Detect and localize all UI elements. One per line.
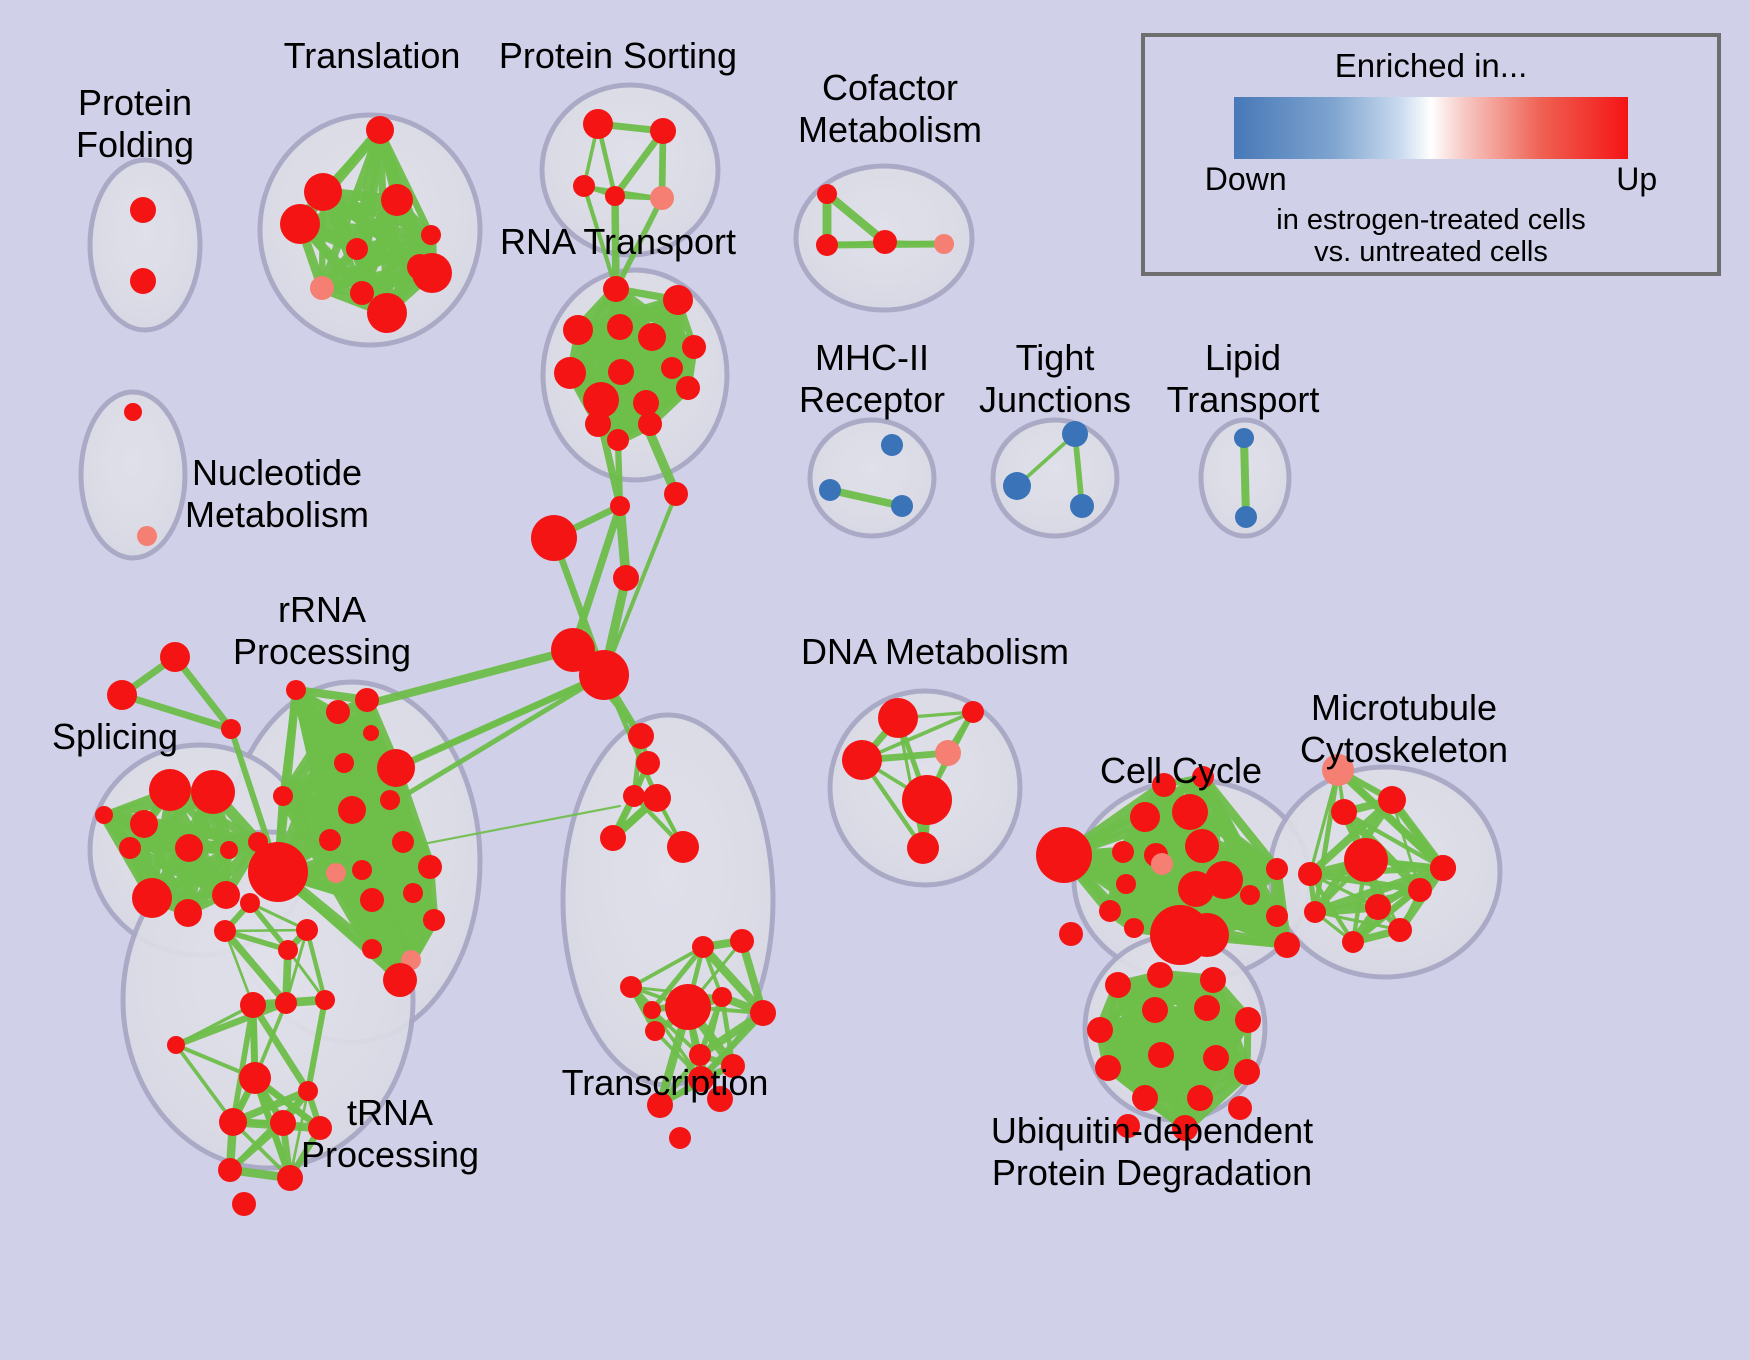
network-node[interactable] xyxy=(563,315,593,345)
network-node[interactable] xyxy=(881,434,903,456)
network-node[interactable] xyxy=(248,842,308,902)
network-node[interactable] xyxy=(1132,1085,1158,1111)
network-node[interactable] xyxy=(273,786,293,806)
network-node[interactable] xyxy=(326,700,350,724)
network-node[interactable] xyxy=(643,784,671,812)
network-node[interactable] xyxy=(334,753,354,773)
network-node[interactable] xyxy=(935,740,961,766)
network-node[interactable] xyxy=(1059,922,1083,946)
legend-caption-line-2: vs. untreated cells xyxy=(1145,236,1717,268)
network-node[interactable] xyxy=(175,834,203,862)
cluster-label-rna-transport: RNA Transport xyxy=(500,221,736,262)
network-node[interactable] xyxy=(412,253,452,293)
network-node[interactable] xyxy=(664,482,688,506)
network-node[interactable] xyxy=(107,680,137,710)
network-node[interactable] xyxy=(628,723,654,749)
network-node[interactable] xyxy=(310,276,334,300)
network-node[interactable] xyxy=(220,841,238,859)
cluster-label-cofactor-metabolism: CofactorMetabolism xyxy=(798,67,982,150)
network-node[interactable] xyxy=(636,751,660,775)
legend-color-gradient-bar xyxy=(1234,97,1628,159)
network-node[interactable] xyxy=(1298,862,1322,886)
network-node[interactable] xyxy=(603,276,629,302)
network-node[interactable] xyxy=(270,1110,296,1136)
network-node[interactable] xyxy=(902,775,952,825)
cluster-label-transcription: Transcription xyxy=(562,1062,769,1103)
network-node[interactable] xyxy=(1342,931,1364,953)
network-node[interactable] xyxy=(1148,1042,1174,1068)
network-node[interactable] xyxy=(239,1062,271,1094)
network-node[interactable] xyxy=(363,725,379,741)
network-node[interactable] xyxy=(934,234,954,254)
network-node[interactable] xyxy=(692,936,714,958)
network-node[interactable] xyxy=(315,990,335,1010)
network-node[interactable] xyxy=(608,359,634,385)
network-node[interactable] xyxy=(645,1021,665,1041)
network-node[interactable] xyxy=(221,719,241,739)
network-node[interactable] xyxy=(1116,874,1136,894)
network-node[interactable] xyxy=(1234,428,1254,448)
network-node[interactable] xyxy=(1266,905,1288,927)
network-node[interactable] xyxy=(218,1158,242,1182)
network-node[interactable] xyxy=(219,1108,247,1136)
network-node[interactable] xyxy=(676,376,700,400)
network-node[interactable] xyxy=(638,412,662,436)
network-node[interactable] xyxy=(817,184,837,204)
network-node[interactable] xyxy=(350,281,374,305)
network-node[interactable] xyxy=(1274,932,1300,958)
network-node[interactable] xyxy=(1200,967,1226,993)
network-node[interactable] xyxy=(643,1001,661,1019)
network-node[interactable] xyxy=(403,883,423,903)
network-node[interactable] xyxy=(907,832,939,864)
network-node[interactable] xyxy=(381,184,413,216)
network-node[interactable] xyxy=(1388,918,1412,942)
network-node[interactable] xyxy=(278,940,298,960)
network-node[interactable] xyxy=(377,749,415,787)
network-node[interactable] xyxy=(610,496,630,516)
network-node[interactable] xyxy=(130,197,156,223)
legend-caption: in estrogen-treated cells vs. untreated … xyxy=(1145,204,1717,269)
network-node[interactable] xyxy=(661,357,683,379)
cluster-label-mhc-ii-receptor: MHC-IIReceptor xyxy=(799,337,945,420)
network-node[interactable] xyxy=(638,323,666,351)
network-node[interactable] xyxy=(1087,1017,1113,1043)
network-node[interactable] xyxy=(1240,885,1260,905)
network-node[interactable] xyxy=(1151,853,1173,875)
network-node[interactable] xyxy=(132,878,172,918)
legend-down-label: Down xyxy=(1205,161,1287,198)
network-node[interactable] xyxy=(573,175,595,197)
figure-canvas: ProteinFoldingTranslationProtein Sorting… xyxy=(0,0,1750,1360)
network-node[interactable] xyxy=(1062,421,1088,447)
network-node[interactable] xyxy=(1105,972,1131,998)
network-node[interactable] xyxy=(1203,1045,1229,1071)
cluster-label-tight-junctions: TightJunctions xyxy=(979,337,1131,420)
network-node[interactable] xyxy=(286,680,306,700)
network-node[interactable] xyxy=(1147,962,1173,988)
network-node[interactable] xyxy=(174,899,202,927)
network-node[interactable] xyxy=(1430,855,1456,881)
network-node[interactable] xyxy=(750,1000,776,1026)
network-node[interactable] xyxy=(275,992,297,1014)
network-node[interactable] xyxy=(149,769,191,811)
network-node[interactable] xyxy=(212,881,240,909)
network-node[interactable] xyxy=(130,268,156,294)
network-node[interactable] xyxy=(95,806,113,824)
network-node[interactable] xyxy=(873,230,897,254)
network-node[interactable] xyxy=(620,976,642,998)
network-node[interactable] xyxy=(232,1192,256,1216)
network-node[interactable] xyxy=(319,829,341,851)
network-node[interactable] xyxy=(682,335,706,359)
cluster-label-ubiquitin-degradation: Ubiquitin-dependentProtein Degradation xyxy=(991,1110,1313,1193)
network-node[interactable] xyxy=(554,357,586,389)
network-node[interactable] xyxy=(712,987,732,1007)
legend-panel: Enriched in... Down Up in estrogen-treat… xyxy=(1141,33,1721,276)
cluster-label-nucleotide-metabolism: NucleotideMetabolism xyxy=(185,452,369,535)
network-node[interactable] xyxy=(613,565,639,591)
network-node[interactable] xyxy=(280,204,320,244)
network-node[interactable] xyxy=(362,939,382,959)
network-node[interactable] xyxy=(816,234,838,256)
network-node[interactable] xyxy=(1194,995,1220,1021)
network-node[interactable] xyxy=(1095,1055,1121,1081)
network-node[interactable] xyxy=(355,688,379,712)
network-node[interactable] xyxy=(891,495,913,517)
network-node[interactable] xyxy=(360,888,384,912)
network-node[interactable] xyxy=(383,963,417,997)
network-node[interactable] xyxy=(160,642,190,672)
network-node[interactable] xyxy=(1235,506,1257,528)
network-node[interactable] xyxy=(600,825,626,851)
network-node[interactable] xyxy=(296,919,318,941)
network-node[interactable] xyxy=(1185,913,1229,957)
legend-title: Enriched in... xyxy=(1145,47,1717,85)
network-node[interactable] xyxy=(1142,997,1168,1023)
network-node[interactable] xyxy=(1099,900,1121,922)
network-node[interactable] xyxy=(240,992,266,1018)
cluster-label-splicing: Splicing xyxy=(52,716,178,757)
network-node[interactable] xyxy=(665,984,711,1030)
network-node[interactable] xyxy=(1234,1059,1260,1085)
network-node[interactable] xyxy=(1070,494,1094,518)
network-node[interactable] xyxy=(326,863,346,883)
network-node[interactable] xyxy=(842,740,882,780)
cluster-label-microtubule-cytoskeleton: MicrotubuleCytoskeleton xyxy=(1300,687,1508,770)
network-node[interactable] xyxy=(421,225,441,245)
network-node[interactable] xyxy=(298,1081,318,1101)
network-node[interactable] xyxy=(366,116,394,144)
network-node[interactable] xyxy=(1378,786,1406,814)
network-node[interactable] xyxy=(1112,841,1134,863)
cluster-label-rrna-processing: rRNAProcessing xyxy=(233,589,411,672)
legend-endpoint-labels: Down Up xyxy=(1205,161,1657,198)
network-edge xyxy=(1244,438,1246,517)
network-node[interactable] xyxy=(1124,918,1144,938)
network-node[interactable] xyxy=(214,920,236,942)
network-node[interactable] xyxy=(1235,1007,1261,1033)
network-node[interactable] xyxy=(633,390,659,416)
network-node[interactable] xyxy=(338,796,366,824)
network-node[interactable] xyxy=(423,909,445,931)
network-node[interactable] xyxy=(585,411,611,437)
network-node[interactable] xyxy=(1036,827,1092,883)
network-node[interactable] xyxy=(1266,858,1288,880)
network-node[interactable] xyxy=(1365,894,1391,920)
network-node[interactable] xyxy=(1408,878,1432,902)
network-node[interactable] xyxy=(1205,861,1243,899)
cluster-label-translation: Translation xyxy=(284,35,461,76)
network-node[interactable] xyxy=(119,837,141,859)
cluster-label-dna-metabolism: DNA Metabolism xyxy=(801,631,1069,672)
network-node[interactable] xyxy=(130,810,158,838)
network-node[interactable] xyxy=(304,173,342,211)
cluster-region-protein-folding[interactable] xyxy=(90,160,200,330)
network-node[interactable] xyxy=(137,526,157,546)
cluster-label-cell-cycle: Cell Cycle xyxy=(1100,750,1262,791)
network-node[interactable] xyxy=(531,515,577,561)
network-node[interactable] xyxy=(650,118,676,144)
network-node[interactable] xyxy=(1130,802,1160,832)
network-node[interactable] xyxy=(730,929,754,953)
network-node[interactable] xyxy=(669,1127,691,1149)
network-node[interactable] xyxy=(167,1036,185,1054)
cluster-region-mhc-ii-receptor[interactable] xyxy=(810,420,934,536)
network-node[interactable] xyxy=(1187,1085,1213,1111)
network-node[interactable] xyxy=(352,860,372,880)
cluster-label-protein-folding: ProteinFolding xyxy=(76,82,194,165)
network-node[interactable] xyxy=(392,831,414,853)
legend-caption-line-1: in estrogen-treated cells xyxy=(1145,204,1717,236)
network-node[interactable] xyxy=(240,893,260,913)
network-node[interactable] xyxy=(583,109,613,139)
network-node[interactable] xyxy=(650,186,674,210)
network-node[interactable] xyxy=(663,285,693,315)
network-node[interactable] xyxy=(346,238,368,260)
network-node[interactable] xyxy=(1185,829,1219,863)
legend-up-label: Up xyxy=(1616,161,1657,198)
network-node[interactable] xyxy=(380,790,400,810)
network-node[interactable] xyxy=(962,701,984,723)
network-node[interactable] xyxy=(418,855,442,879)
network-edge xyxy=(225,930,307,931)
network-node[interactable] xyxy=(124,403,142,421)
network-node[interactable] xyxy=(1003,472,1031,500)
network-node[interactable] xyxy=(819,479,841,501)
network-node[interactable] xyxy=(191,770,235,814)
network-node[interactable] xyxy=(277,1165,303,1191)
network-node[interactable] xyxy=(1331,799,1357,825)
network-node[interactable] xyxy=(1172,794,1208,830)
network-node[interactable] xyxy=(1304,901,1326,923)
network-node[interactable] xyxy=(367,293,407,333)
network-node[interactable] xyxy=(607,314,633,340)
network-node[interactable] xyxy=(579,650,629,700)
cluster-label-lipid-transport: LipidTransport xyxy=(1167,337,1320,420)
network-node[interactable] xyxy=(1344,838,1388,882)
network-node[interactable] xyxy=(667,831,699,863)
network-node[interactable] xyxy=(607,429,629,451)
cluster-label-protein-sorting: Protein Sorting xyxy=(499,35,737,76)
network-node[interactable] xyxy=(878,698,918,738)
network-node[interactable] xyxy=(605,186,625,206)
network-node[interactable] xyxy=(623,785,645,807)
